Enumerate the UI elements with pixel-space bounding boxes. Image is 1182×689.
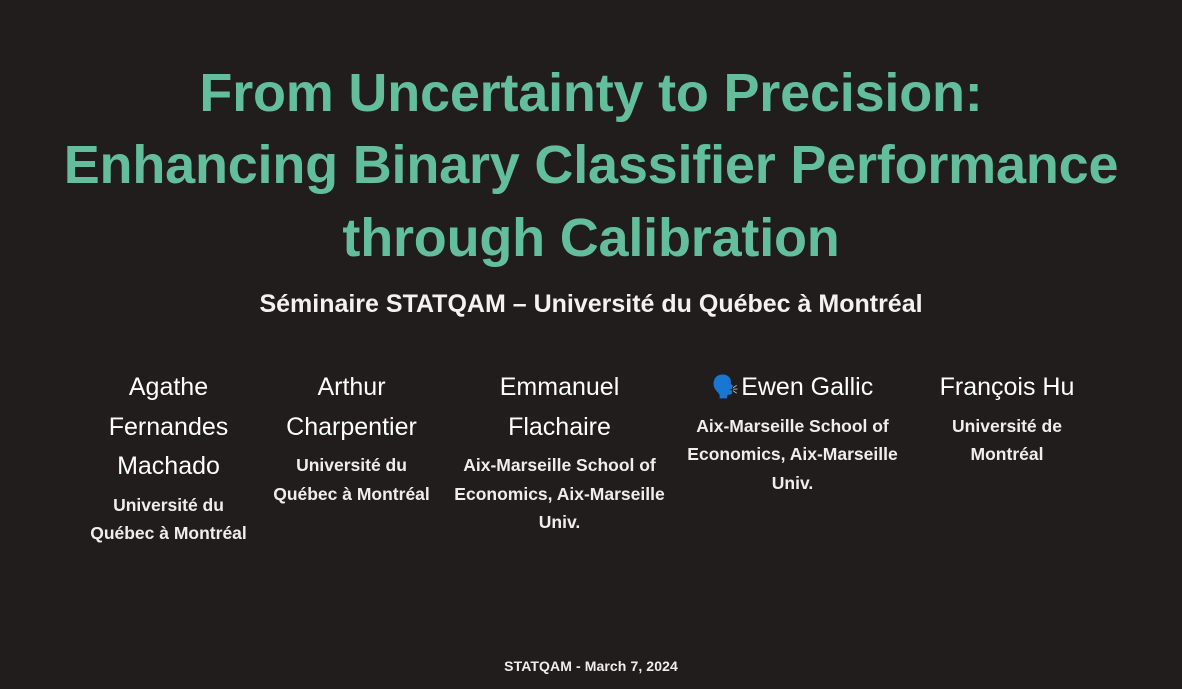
page-subtitle: Séminaire STATQAM – Université du Québec… — [0, 289, 1182, 320]
author-affiliation: Université de Montréal — [919, 412, 1095, 469]
author-affiliation: Aix-Marseille School of Economics, Aix-M… — [686, 412, 899, 498]
author-name: 🗣️Ewen Gallic — [686, 368, 899, 408]
author-entry-2: Arthur Charpentier Université du Québec … — [260, 368, 443, 508]
author-affiliation: Université du Québec à Montréal — [87, 491, 250, 548]
author-entry-4: 🗣️Ewen Gallic Aix-Marseille School of Ec… — [676, 368, 909, 497]
author-name: Agathe Fernandes Machado — [87, 368, 250, 487]
author-name: Arthur Charpentier — [270, 368, 433, 447]
slide-footer: STATQAM - March 7, 2024 — [0, 658, 1182, 674]
title-line-2: Enhancing Binary Classifier Performance — [64, 135, 1119, 195]
title-block: From Uncertainty to Precision: Enhancing… — [0, 57, 1182, 274]
author-affiliation: Université du Québec à Montréal — [270, 451, 433, 508]
title-slide: From Uncertainty to Precision: Enhancing… — [0, 0, 1182, 689]
author-affiliation: Aix-Marseille School of Economics, Aix-M… — [453, 451, 666, 537]
title-line-3: through Calibration — [342, 208, 839, 268]
authors-row: Agathe Fernandes Machado Université du Q… — [0, 368, 1182, 548]
speaking-head-icon: 🗣️ — [712, 374, 739, 399]
author-name: François Hu — [919, 368, 1095, 408]
page-title: From Uncertainty to Precision: Enhancing… — [28, 57, 1154, 274]
subtitle-block: Séminaire STATQAM – Université du Québec… — [0, 289, 1182, 320]
author-name-text: Ewen Gallic — [741, 373, 873, 401]
author-entry-5: François Hu Université de Montréal — [909, 368, 1105, 469]
author-entry-3: Emmanuel Flachaire Aix-Marseille School … — [443, 368, 676, 537]
title-line-1: From Uncertainty to Precision: — [199, 63, 982, 123]
author-entry-1: Agathe Fernandes Machado Université du Q… — [77, 368, 260, 548]
author-name: Emmanuel Flachaire — [453, 368, 666, 447]
footer-text: STATQAM - March 7, 2024 — [0, 658, 1182, 674]
